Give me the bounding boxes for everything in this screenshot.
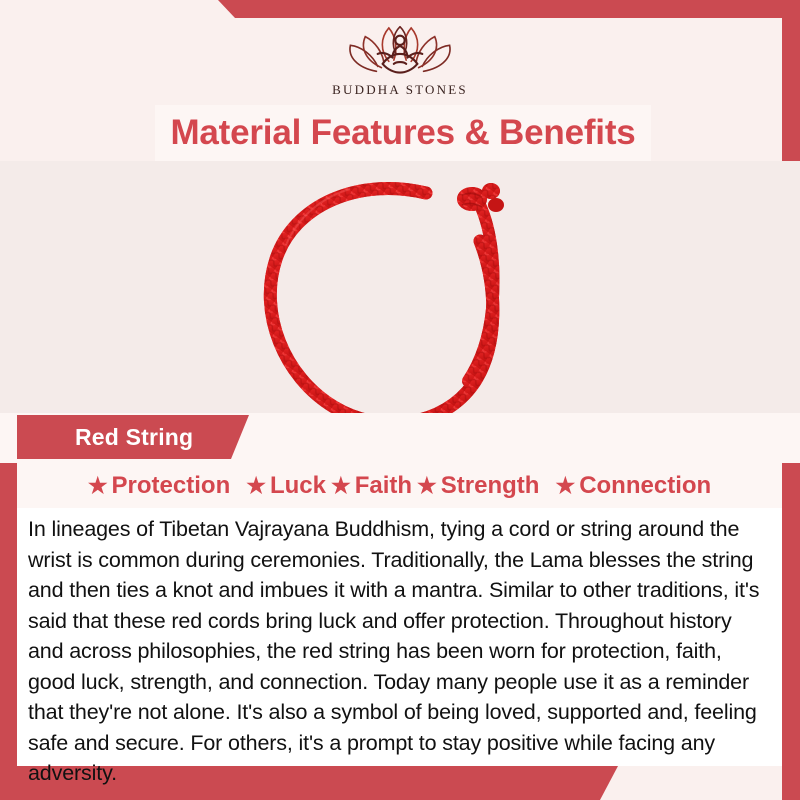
benefit-protection: ★ Protection — [88, 472, 230, 500]
product-label-ribbon: Red String — [17, 415, 249, 459]
description-panel: In lineages of Tibetan Vajrayana Buddhis… — [17, 508, 782, 766]
star-icon: ★ — [246, 475, 266, 497]
benefit-label: Faith — [355, 472, 412, 500]
product-image-band — [0, 161, 800, 413]
benefit-label: Luck — [270, 472, 326, 500]
benefit-faith: ★ Faith — [331, 472, 412, 500]
page-title: Material Features & Benefits — [170, 113, 635, 153]
description-text: In lineages of Tibetan Vajrayana Buddhis… — [28, 514, 764, 789]
star-icon: ★ — [331, 475, 351, 497]
star-icon: ★ — [555, 475, 575, 497]
decor-bar-top — [218, 0, 800, 18]
star-icon: ★ — [88, 475, 108, 497]
headline-band: Material Features & Benefits — [155, 105, 651, 161]
poster-canvas: BUDDHA STONES Material Features & Benefi… — [0, 0, 800, 800]
benefit-label: Protection — [112, 472, 231, 500]
brand-block: BUDDHA STONES — [0, 18, 800, 104]
benefit-strength: ★ Strength — [417, 472, 539, 500]
star-icon: ★ — [417, 475, 437, 497]
product-label: Red String — [17, 424, 193, 451]
benefit-connection: ★ Connection — [555, 472, 711, 500]
benefit-luck: ★ Luck — [246, 472, 326, 500]
benefit-label: Strength — [441, 472, 540, 500]
benefits-row: ★ Protection ★ Luck ★ Faith ★ Strength ★… — [17, 463, 782, 508]
benefit-label: Connection — [579, 472, 711, 500]
lotus-meditation-icon — [336, 18, 464, 80]
brand-name: BUDDHA STONES — [332, 82, 468, 98]
